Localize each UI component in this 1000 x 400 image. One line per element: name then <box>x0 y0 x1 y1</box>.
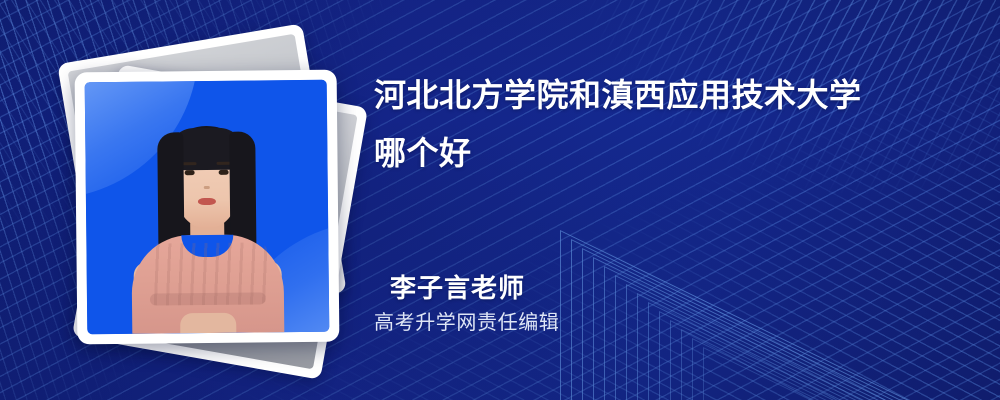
text-block: 河北北方学院和滇西应用技术大学 哪个好 李子言老师 高考升学网责任编辑 <box>374 0 974 400</box>
author-name: 李子言老师 <box>390 272 559 304</box>
portrait-dress-folds <box>147 242 268 305</box>
byline: 李子言老师 高考升学网责任编辑 <box>390 272 559 336</box>
portrait-mouth <box>198 198 216 205</box>
author-photo <box>85 80 330 335</box>
portrait-hands <box>180 313 236 334</box>
photo-card-stack <box>56 38 356 368</box>
page-title: 河北北方学院和滇西应用技术大学 哪个好 <box>374 66 956 182</box>
page-title-line-2: 哪个好 <box>374 124 956 182</box>
photo-card-front <box>75 70 340 345</box>
page-title-line-1: 河北北方学院和滇西应用技术大学 <box>374 66 956 124</box>
author-role: 高考升学网责任编辑 <box>374 310 559 336</box>
portrait-eye-left <box>185 170 195 175</box>
portrait-figure <box>111 117 303 334</box>
portrait-eye-right <box>219 170 229 175</box>
portrait-nose <box>204 186 210 189</box>
article-cover-banner: 河北北方学院和滇西应用技术大学 哪个好 李子言老师 高考升学网责任编辑 <box>0 0 1000 400</box>
portrait-eyebrow-right <box>217 162 231 165</box>
portrait-eyebrow-left <box>183 162 197 165</box>
